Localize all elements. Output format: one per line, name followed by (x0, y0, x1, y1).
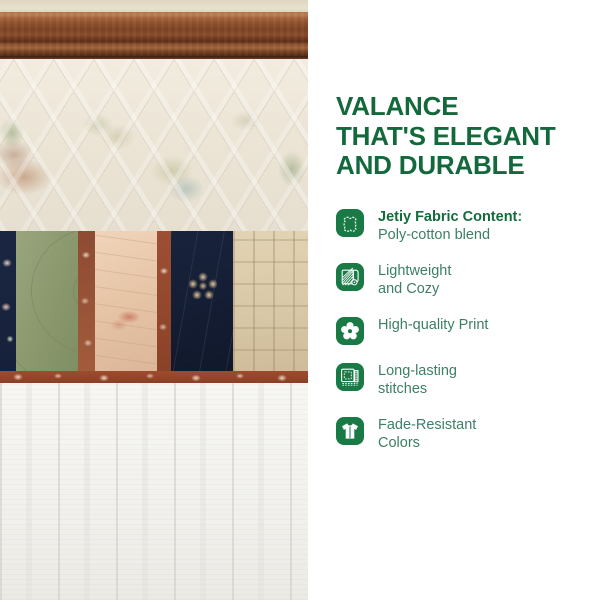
list-item-label: Fade-Resistant Colors (378, 416, 476, 453)
feature-1-bold: Jetiy Fabric Content (378, 209, 517, 225)
flower-icon (336, 317, 364, 345)
patch-rust-floral-narrow (78, 231, 95, 373)
feature-4-line2: stitches (378, 381, 427, 397)
patch-sage-green (16, 231, 78, 373)
promo-banner: VALANCE THAT'S ELEGANT AND DURABLE Jetiy… (0, 0, 600, 600)
patch-peach-floral (95, 231, 157, 373)
patchwork-strip-band (0, 231, 308, 373)
feature-2-line1: Lightweight (378, 263, 451, 279)
fabric-swatch-icon (336, 209, 364, 237)
feature-1-colon: : (517, 209, 522, 225)
content-panel: VALANCE THAT'S ELEGANT AND DURABLE Jetiy… (308, 0, 600, 600)
list-item-label: Long-lasting stitches (378, 362, 457, 399)
patch-navy-with-tan-flower (171, 231, 233, 373)
tshirt-icon (336, 417, 364, 445)
list-item: Lightweight and Cozy (336, 262, 596, 299)
wooden-cornice-board (0, 12, 308, 58)
headline-line-3: AND DURABLE (336, 151, 586, 181)
cream-quilted-floral-panel (0, 59, 308, 231)
patch-navy-floral (0, 231, 16, 373)
feature-2-line2: and Cozy (378, 281, 439, 297)
list-item-label: Lightweight and Cozy (378, 262, 451, 299)
stitched-patch-icon (336, 363, 364, 391)
product-photo (0, 0, 308, 600)
feature-5-line2: Colors (378, 435, 420, 451)
list-item: Jetiy Fabric Content: Poly-cotton blend (336, 208, 596, 245)
rust-floral-binding (0, 371, 308, 383)
list-item: High-quality Print (336, 316, 596, 345)
feature-5-line1: Fade-Resistant (378, 417, 476, 433)
patch-tan-plaid (233, 231, 308, 373)
feature-list: Jetiy Fabric Content: Poly-cotton blend (336, 208, 596, 470)
headline-line-1: VALANCE (336, 92, 586, 122)
list-item-label: Jetiy Fabric Content: Poly-cotton blend (378, 208, 522, 245)
patch-rust-floral-narrow-2 (157, 231, 171, 373)
white-sheer-curtain (0, 383, 308, 600)
feature-1-line2: Poly-cotton blend (378, 227, 490, 243)
list-item: Fade-Resistant Colors (336, 416, 596, 453)
headline-line-2: THAT'S ELEGANT (336, 122, 586, 152)
fabric-roll-icon (336, 263, 364, 291)
list-item-label: High-quality Print (378, 316, 488, 335)
list-item: Long-lasting stitches (336, 362, 596, 399)
feature-3-line1: High-quality Print (378, 317, 488, 333)
page-title: VALANCE THAT'S ELEGANT AND DURABLE (336, 92, 586, 181)
feature-4-line1: Long-lasting (378, 363, 457, 379)
